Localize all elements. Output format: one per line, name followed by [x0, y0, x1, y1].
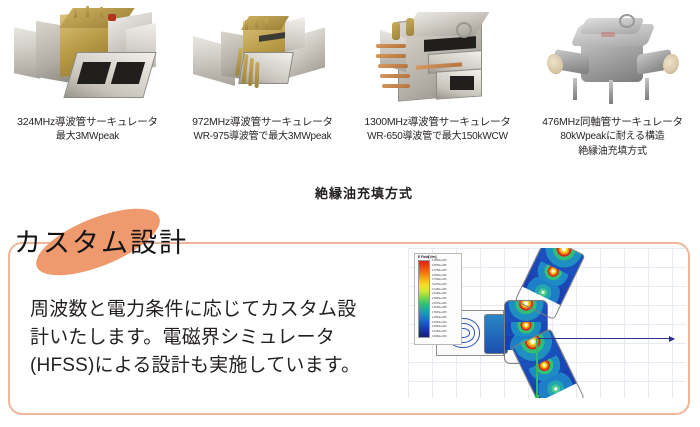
product-title-4: 476MHz同軸管サーキュレータ [542, 116, 683, 128]
product-title-2: 972MHz導波管サーキュレータ [192, 116, 333, 128]
legend-tick: 4.3750e+005 [432, 270, 458, 272]
x-axis-arrow [536, 338, 674, 339]
y-axis-arrow [536, 338, 538, 396]
product-caption-1: 324MHz導波管サーキュレータ 最大3MWpeak [2, 115, 173, 145]
product-sub-4: 80kWpeakに耐える構造 [527, 130, 698, 145]
product-card-3: 1300MHz導波管サーキュレータ WR-650導波管で最大150kWCW [350, 0, 525, 180]
product-sub-1: 最大3MWpeak [2, 130, 173, 145]
custom-design-body: 周波数と電力条件に応じてカスタム設 計いたします。電磁界シミュレータ (HFSS… [30, 296, 400, 380]
waveguide-circulator-972mhz-photo [177, 0, 348, 112]
product-card-2: 972MHz導波管サーキュレータ WR-975導波管で最大3MWpeak [175, 0, 350, 180]
custom-design-body-line-2: 計いたします。電磁界シミュレータ [30, 324, 400, 352]
product-sub-2: WR-975導波管で最大3MWpeak [177, 130, 348, 145]
product-gallery: 324MHz導波管サーキュレータ 最大3MWpeak [0, 0, 700, 180]
product-sub-3: WR-650導波管で最大150kWCW [352, 130, 523, 145]
product-sub-4b: 絶縁油充填方式 [527, 145, 698, 160]
legend-tick: 1.2500e+005 [432, 317, 458, 319]
legend-tick: 4.6875e+005 [432, 265, 458, 267]
product-caption-2: 972MHz導波管サーキュレータ WR-975導波管で最大3MWpeak [177, 115, 348, 145]
product-card-4: 476MHz同軸管サーキュレータ 80kWpeakに耐える構造 絶縁油充填方式 [525, 0, 700, 180]
legend-tick: 5.0000e+005 [432, 260, 458, 262]
mid-note-text: 絶縁油充填方式 [315, 183, 413, 202]
legend-tick: 9.3750e+004 [432, 322, 458, 324]
mid-note: 絶縁油充填方式 [0, 183, 700, 202]
legend-tick: 3.4375e+005 [432, 284, 458, 286]
legend-tick: 3.1250e+004 [432, 331, 458, 333]
waveguide-circulator-1300mhz-photo [352, 0, 523, 112]
legend-colorbar [418, 260, 430, 338]
product-title-1: 324MHz導波管サーキュレータ [17, 116, 158, 128]
legend-tick: 3.1250e+005 [432, 289, 458, 291]
custom-design-body-line-1: 周波数と電力条件に応じてカスタム設 [30, 296, 400, 324]
legend-tick: 3.7500e+005 [432, 279, 458, 281]
waveguide-circulator-324mhz-photo [2, 0, 173, 112]
legend-tick: 2.5000e+005 [432, 298, 458, 300]
custom-design-heading-group: カスタム設計 [14, 218, 244, 266]
product-card-1: 324MHz導波管サーキュレータ 最大3MWpeak [0, 0, 175, 180]
legend-tick: 4.0625e+005 [432, 275, 458, 277]
coaxial-circulator-476mhz-photo [527, 0, 698, 112]
product-caption-3: 1300MHz導波管サーキュレータ WR-650導波管で最大150kWCW [352, 115, 523, 145]
custom-design-body-line-3: (HFSS)による設計も実施しています。 [30, 352, 400, 380]
page-title: カスタム設計 [14, 221, 188, 260]
legend-ticks: 5.0000e+005 4.6875e+005 4.3750e+005 4.06… [430, 260, 459, 338]
hfss-efield-plot: E Field[V/m] 5.0000e+005 4.6875e+005 4.3… [408, 248, 686, 398]
legend-tick: 1.8750e+005 [432, 308, 458, 310]
legend-tick: 2.8125e+005 [432, 293, 458, 295]
slide-root: 324MHz導波管サーキュレータ 最大3MWpeak [0, 0, 700, 427]
legend-tick: 0.0000e+000 [432, 336, 458, 338]
product-caption-4: 476MHz同軸管サーキュレータ 80kWpeakに耐える構造 絶縁油充填方式 [527, 115, 698, 159]
efield-legend: E Field[V/m] 5.0000e+005 4.6875e+005 4.3… [414, 253, 462, 345]
legend-tick: 1.5625e+005 [432, 312, 458, 314]
product-title-3: 1300MHz導波管サーキュレータ [364, 116, 510, 128]
legend-tick: 6.2500e+004 [432, 326, 458, 328]
legend-tick: 2.1875e+005 [432, 303, 458, 305]
